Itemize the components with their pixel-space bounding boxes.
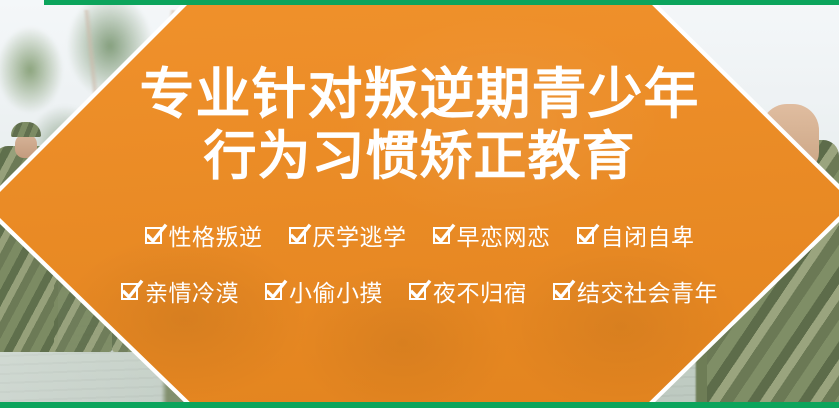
checklist-row: 性格叛逆 厌学逃学 早恋网恋 [121,218,718,252]
checklist-item[interactable]: 早恋网恋 [433,218,551,252]
checked-checkbox-icon[interactable] [145,227,162,244]
checked-checkbox-icon[interactable] [265,283,282,300]
checklist-item-label: 夜不归宿 [433,274,527,308]
checklist-item[interactable]: 小偷小摸 [265,274,383,308]
headline-line-2: 行为习惯矫正教育 [204,130,636,184]
checklist-item[interactable]: 结交社会青年 [553,274,718,308]
checked-checkbox-icon[interactable] [553,283,570,300]
symptom-checklist: 性格叛逆 厌学逃学 早恋网恋 [121,218,718,308]
checklist-row: 亲情冷漠 小偷小摸 夜不归宿 [121,274,718,308]
checklist-item-label: 早恋网恋 [457,218,551,252]
checklist-item[interactable]: 亲情冷漠 [121,274,239,308]
checklist-item-label: 结交社会青年 [577,274,718,308]
headline-line-1: 专业针对叛逆期青少年 [139,66,699,122]
checklist-item-label: 自闭自卑 [601,218,695,252]
checked-checkbox-icon[interactable] [121,283,138,300]
checklist-item-label: 小偷小摸 [289,274,383,308]
checklist-item-label: 亲情冷漠 [145,274,239,308]
checklist-item[interactable]: 性格叛逆 [145,218,263,252]
checklist-item[interactable]: 厌学逃学 [289,218,407,252]
checked-checkbox-icon[interactable] [577,227,594,244]
checked-checkbox-icon[interactable] [409,283,426,300]
promo-banner: 专业针对叛逆期青少年 行为习惯矫正教育 性格叛逆 厌学逃学 [0,0,839,408]
checklist-item-label: 性格叛逆 [169,218,263,252]
checked-checkbox-icon[interactable] [289,227,306,244]
banner-content: 专业针对叛逆期青少年 行为习惯矫正教育 性格叛逆 厌学逃学 [0,0,839,408]
checklist-item-label: 厌学逃学 [313,218,407,252]
checklist-item[interactable]: 自闭自卑 [577,218,695,252]
checklist-item[interactable]: 夜不归宿 [409,274,527,308]
checked-checkbox-icon[interactable] [433,227,450,244]
